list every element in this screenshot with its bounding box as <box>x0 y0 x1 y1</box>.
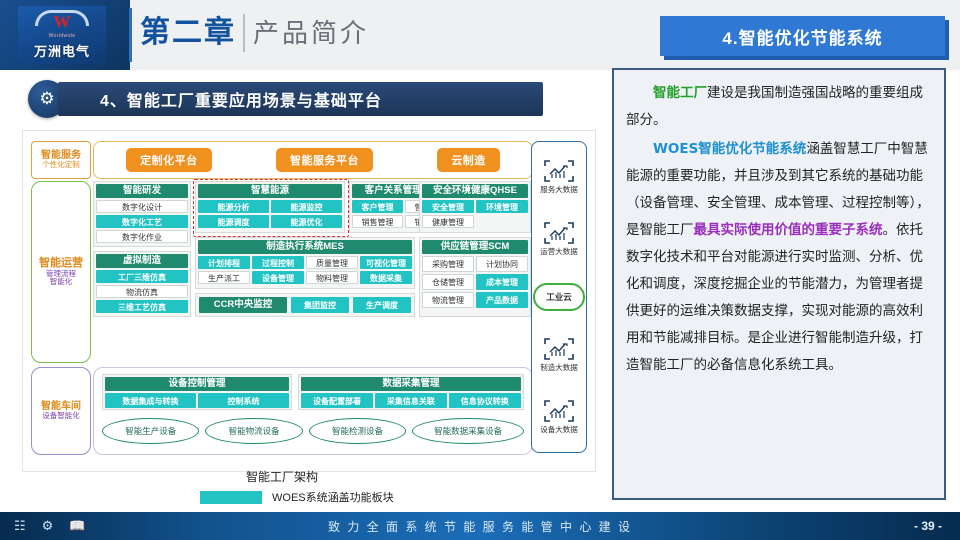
cell-dc-1[interactable]: 控制系统 <box>198 393 289 408</box>
platform-pill-1[interactable]: 智能服务平台 <box>276 148 373 172</box>
highlight-smart-factory: 智能工厂 <box>653 85 707 101</box>
module-ccr-title: CCR中央监控 <box>199 297 287 313</box>
cell-vm-0[interactable]: 工厂三维仿真 <box>96 270 188 283</box>
header-divider <box>129 8 132 62</box>
bigdata-item-0[interactable]: 服务大数据 <box>540 159 578 195</box>
cell-mes-1[interactable]: 过程控制 <box>252 256 304 269</box>
cell-da-1[interactable]: 采集信息关联 <box>375 393 447 408</box>
cell-energy-1[interactable]: 能源监控 <box>271 200 342 213</box>
paragraph-2-rest: 。依托数字化技术和平台对能源进行实时监测、分析、优化和调度，深度挖掘企业的节能潜… <box>626 222 923 373</box>
book-icon[interactable]: 📖 <box>69 518 85 534</box>
device-ellipse-3[interactable]: 智能数据采集设备 <box>412 418 524 444</box>
bigdata-column: 服务大数据 运营大数据 工业云 制造大数据 <box>531 141 587 453</box>
cell-qhse-3 <box>476 215 528 228</box>
cell-scm-1[interactable]: 计划协同 <box>476 256 528 272</box>
corner-tag-badge: 4.智能优化节能系统 <box>660 16 945 56</box>
logo-company-name: 万洲电气 <box>34 41 90 60</box>
device-ellipse-0[interactable]: 智能生产设备 <box>102 418 199 444</box>
cell-mes-2[interactable]: 质量管理 <box>306 256 358 269</box>
module-rnd[interactable]: 智能研发 数字化设计 数字化工艺 数字化作业 <box>93 181 191 247</box>
cell-vm-2[interactable]: 三维工艺仿真 <box>96 300 188 313</box>
cell-scm-0[interactable]: 采购管理 <box>422 256 474 272</box>
smart-factory-architecture-diagram: 智能服务 个性化定制 定制化平台 智能服务平台 云制造 智能运营 管理流程 智能… <box>22 130 596 472</box>
page-title: 4、智能工厂重要应用场景与基础平台 <box>100 87 382 111</box>
module-mes-title: 制造执行系统MES <box>198 240 412 254</box>
section-heading-bar: 4、智能工厂重要应用场景与基础平台 <box>58 82 543 116</box>
bigdata-label-2: 工业云 <box>546 291 572 303</box>
module-ccr[interactable]: CCR中央监控 集团监控 生产调度 <box>195 293 415 317</box>
footer-slogan: 致 力 全 面 系 统 节 能 服 务 能 管 中 心 建 设 <box>0 512 960 540</box>
cell-ccr-1[interactable]: 生产调度 <box>353 297 411 313</box>
cell-mes-3[interactable]: 可视化管理 <box>360 256 412 269</box>
footer-bar: 致 力 全 面 系 统 节 能 服 务 能 管 中 心 建 设 ☷ ⚙ 📖 - … <box>0 512 960 540</box>
workshop-panel: 设备控制管理 数据集成与转换 控制系统 数据采集管理 设备配置部署 采集信息关联… <box>93 367 533 455</box>
platform-pill-0[interactable]: 定制化平台 <box>126 148 212 172</box>
operations-modules-panel: 智能研发 数字化设计 数字化工艺 数字化作业 虚拟制造 工厂三维仿真 物流仿真 … <box>93 181 531 361</box>
highlight-woes: WOES智能优化节能系统 <box>653 141 806 157</box>
legend-caption: 智能工厂架构 <box>246 468 530 485</box>
cell-ccr-0[interactable]: 集团监控 <box>291 297 349 313</box>
paragraph-2: WOES智能优化节能系统涵盖智慧工厂中智慧能源的重要功能，并且涉及到其它系统的基… <box>626 136 932 379</box>
service-layer-label: 智能服务 个性化定制 <box>31 141 91 179</box>
paragraph-1: 智能工厂建设是我国制造强国战略的重要组成部分。 <box>626 80 932 134</box>
platform-pill-2[interactable]: 云制造 <box>437 148 500 172</box>
cell-energy-2[interactable]: 能源调度 <box>198 215 269 228</box>
legend-row: WOES系统涵盖功能板块 <box>200 489 530 505</box>
company-logo: W Worldwide 万洲电气 <box>18 6 106 64</box>
workshop-label-sub: 设备智能化 <box>42 412 80 421</box>
chapter-title: 产品简介 <box>253 14 369 52</box>
cell-crm-2[interactable]: 销售管理 <box>352 215 403 228</box>
cell-da-0[interactable]: 设备配置部署 <box>301 393 373 408</box>
cell-energy-3[interactable]: 能源优化 <box>271 215 342 228</box>
cell-scm-2[interactable]: 仓储管理 <box>422 274 474 290</box>
module-device-control[interactable]: 设备控制管理 数据集成与转换 控制系统 <box>102 374 292 410</box>
cell-rnd-1[interactable]: 数字化工艺 <box>96 215 188 228</box>
diagram-legend: 智能工厂架构 WOES系统涵盖功能板块 <box>200 468 530 505</box>
module-mes[interactable]: 制造执行系统MES 计划排程 过程控制 质量管理 可视化管理 生产派工 设备管理… <box>195 237 415 289</box>
service-platform-panel: 定制化平台 智能服务平台 云制造 <box>93 141 533 179</box>
cell-rnd-2[interactable]: 数字化作业 <box>96 230 188 243</box>
operations-layer-row: 智能运营 管理流程 智能化 智能研发 数字化设计 数字化工艺 数字化作业 虚拟制… <box>31 181 531 361</box>
module-qhse[interactable]: 安全环境健康QHSE 安全管理 环境管理 健康管理 <box>419 181 531 233</box>
network-icon[interactable]: ☷ <box>14 518 26 534</box>
cell-qhse-2[interactable]: 健康管理 <box>422 215 474 228</box>
module-virtual-mfg-title: 虚拟制造 <box>96 254 188 268</box>
chapter-separator <box>243 14 245 52</box>
cell-vm-1[interactable]: 物流仿真 <box>96 285 188 298</box>
cell-mes-6[interactable]: 物料管理 <box>306 271 358 284</box>
module-smart-energy[interactable]: 智慧能源 能源分析 能源监控 能源调度 能源优化 <box>195 181 345 233</box>
page-number: - 39 - <box>914 512 942 540</box>
module-scm-title: 供应链管理SCM <box>422 240 528 254</box>
module-virtual-mfg[interactable]: 虚拟制造 工厂三维仿真 物流仿真 三维工艺仿真 <box>93 251 191 317</box>
highlight-subsystem: 最具实际使用价值的重要子系统 <box>694 222 883 238</box>
corner-tag-label: 4.智能优化节能系统 <box>722 24 882 49</box>
logo-subtitle: Worldwide <box>49 33 76 39</box>
cell-energy-0[interactable]: 能源分析 <box>198 200 269 213</box>
cell-mes-4[interactable]: 生产派工 <box>198 271 250 284</box>
bigdata-label-0: 服务大数据 <box>540 184 578 195</box>
bigdata-item-1[interactable]: 运营大数据 <box>540 221 578 257</box>
description-panel: 智能工厂建设是我国制造强国战略的重要组成部分。 WOES智能优化节能系统涵盖智慧… <box>612 68 946 500</box>
legend-swatch-label: WOES系统涵盖功能板块 <box>272 489 394 505</box>
ops-label-main: 智能运营 <box>39 257 83 270</box>
chart-bracket-icon <box>543 399 575 423</box>
cell-dc-0[interactable]: 数据集成与转换 <box>105 393 196 408</box>
bigdata-label-3: 制造大数据 <box>540 362 578 373</box>
chart-bracket-icon <box>543 159 575 183</box>
logo-mark-icon: W <box>35 10 89 32</box>
chapter-number: 第二章 <box>140 12 236 54</box>
chart-bracket-icon <box>543 337 575 361</box>
workshop-layer-label: 智能车间 设备智能化 <box>31 367 91 455</box>
module-smart-energy-title: 智慧能源 <box>198 184 342 198</box>
bigdata-item-4[interactable]: 设备大数据 <box>540 399 578 435</box>
cell-scm-5[interactable]: 产品数据 <box>476 292 528 308</box>
device-ellipse-2[interactable]: 智能检测设备 <box>309 418 406 444</box>
workshop-layer-row: 智能车间 设备智能化 设备控制管理 数据集成与转换 控制系统 数据采集管理 设备… <box>31 367 531 453</box>
module-data-acquisition[interactable]: 数据采集管理 设备配置部署 采集信息关联 信息协议转换 <box>298 374 524 410</box>
module-data-acquisition-title: 数据采集管理 <box>301 377 521 391</box>
chart-bracket-icon <box>543 221 575 245</box>
footer-icon-group: ☷ ⚙ 📖 <box>14 512 86 540</box>
bigdata-label-1: 运营大数据 <box>540 246 578 257</box>
module-qhse-title: 安全环境健康QHSE <box>422 184 528 198</box>
logo-letter: W <box>47 12 77 32</box>
cloud-icon[interactable]: 工业云 <box>533 283 585 311</box>
bigdata-item-3[interactable]: 制造大数据 <box>540 337 578 373</box>
service-label-sub: 个性化定制 <box>42 161 80 170</box>
cell-qhse-1[interactable]: 环境管理 <box>476 200 528 213</box>
legend-swatch <box>200 491 262 504</box>
cell-scm-4[interactable]: 物流管理 <box>422 292 474 308</box>
module-rnd-title: 智能研发 <box>96 184 188 198</box>
cell-mes-5[interactable]: 设备管理 <box>252 271 304 284</box>
module-device-control-title: 设备控制管理 <box>105 377 289 391</box>
cell-mes-7[interactable]: 数据采集 <box>360 271 412 284</box>
cell-scm-3[interactable]: 成本管理 <box>476 274 528 290</box>
cell-mes-0[interactable]: 计划排程 <box>198 256 250 269</box>
cell-da-2[interactable]: 信息协议转换 <box>449 393 521 408</box>
module-scm[interactable]: 供应链管理SCM 采购管理 计划协同 仓储管理 成本管理 物流管理 产品数据 <box>419 237 531 317</box>
device-ellipse-1[interactable]: 智能物流设备 <box>205 418 302 444</box>
cell-crm-0[interactable]: 客户管理 <box>352 200 403 213</box>
cell-rnd-0[interactable]: 数字化设计 <box>96 200 188 213</box>
bigdata-label-4: 设备大数据 <box>540 424 578 435</box>
service-layer-row: 智能服务 个性化定制 定制化平台 智能服务平台 云制造 <box>31 141 531 177</box>
operations-layer-label: 智能运营 管理流程 智能化 <box>31 181 91 363</box>
ops-label-sub-2: 智能化 <box>50 278 73 287</box>
cell-qhse-0[interactable]: 安全管理 <box>422 200 474 213</box>
gear-icon[interactable]: ⚙ <box>42 518 54 534</box>
